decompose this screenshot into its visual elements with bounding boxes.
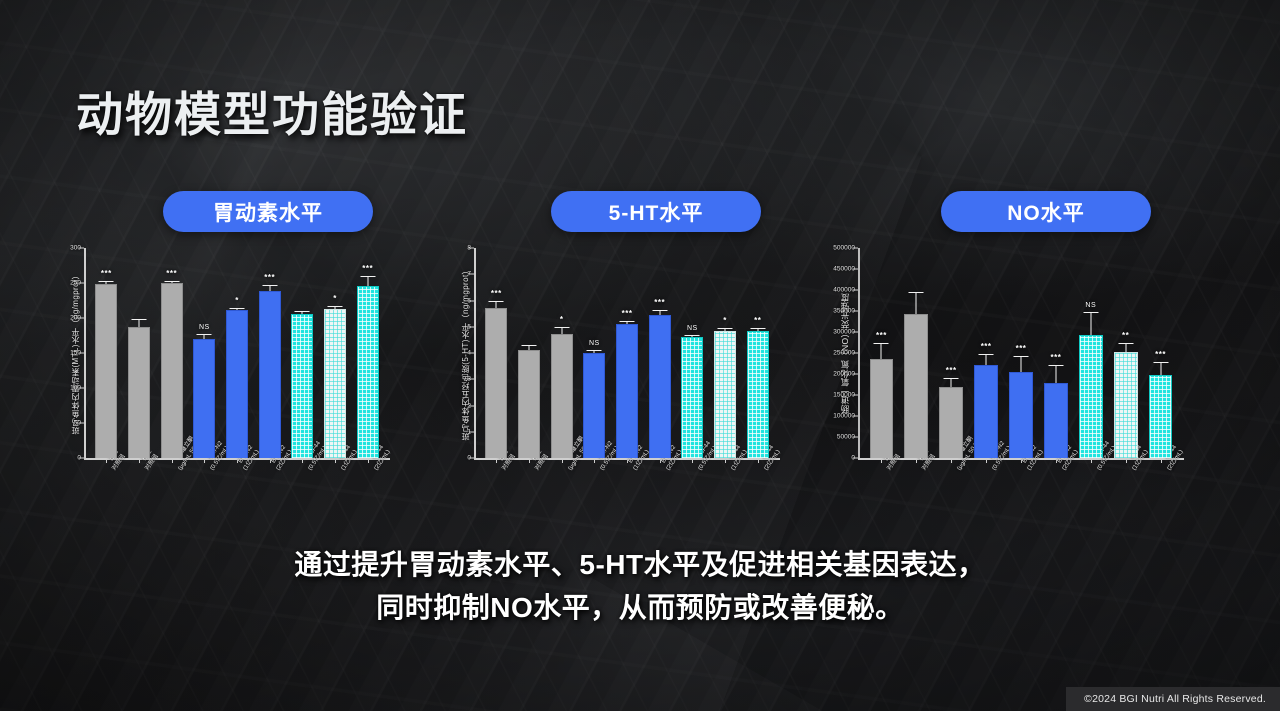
plot-area: 050100150200250300***正常对照组模型对照组***多潘立酮(5… — [84, 248, 384, 458]
y-axis-tick-mark — [469, 326, 474, 327]
y-axis-tick-mark — [469, 431, 474, 432]
y-axis-tick-mark — [853, 395, 858, 396]
bar-slot: *BGI-N2(1亿/mL) — [221, 248, 254, 458]
significance-marker: NS — [687, 325, 698, 332]
bar — [1149, 375, 1173, 458]
bar-slot: *OF44(1亿/mL) — [709, 248, 742, 458]
y-axis-tick-mark — [79, 318, 84, 319]
bar — [1114, 352, 1138, 458]
bar-slot: ***OF44(2亿/mL) — [1143, 248, 1178, 458]
y-axis-tick-mark — [853, 290, 858, 291]
significance-marker: *** — [946, 366, 957, 375]
y-axis-tick-mark — [469, 353, 474, 354]
significance-marker: *** — [622, 309, 633, 318]
y-axis-tick-mark — [853, 311, 858, 312]
bar — [583, 353, 605, 458]
bar — [974, 365, 998, 458]
y-axis-tick-mark — [79, 248, 84, 249]
plot-area: 0500001000001500002000002500003000003500… — [858, 248, 1178, 458]
significance-marker: *** — [876, 331, 887, 340]
bar — [226, 310, 248, 458]
y-axis-tick-label: 400000 — [833, 287, 855, 294]
bar-group: ***正常对照组模型对照组*多潘立酮(50.0 μg/mL)NSBGI-N2(0… — [480, 248, 774, 458]
bar-slot: 模型对照组 — [899, 248, 934, 458]
bar-chart-no: 肠道一氧化氮（NO）荧光强度05000010000015000020000025… — [836, 248, 1236, 508]
chart-title-badge-label: 胃动素水平 — [213, 197, 323, 227]
y-axis-tick-mark — [469, 300, 474, 301]
y-axis-line — [858, 248, 860, 458]
significance-marker: NS — [589, 340, 600, 347]
y-axis-tick-label: 250000 — [833, 350, 855, 357]
footer-bar: ©2024 BGI Nutri All Rights Reserved. — [1066, 687, 1280, 711]
bar — [1079, 335, 1103, 458]
significance-marker: NS — [1085, 302, 1096, 309]
bar-slot: ***BGI-N2(2亿/mL) — [253, 248, 286, 458]
significance-marker: NS — [199, 324, 210, 331]
significance-marker: *** — [1050, 353, 1061, 362]
bar-slot: ***BGI-N2(2亿/mL) — [1038, 248, 1073, 458]
bar-slot: NSBGI-N2(0.5亿/mL) — [188, 248, 221, 458]
bar-slot: ***正常对照组 — [480, 248, 513, 458]
y-axis-tick-mark — [853, 269, 858, 270]
page-title: 动物模型功能验证 — [76, 76, 468, 145]
bar — [161, 283, 183, 458]
chart-title-badge-no: NO水平 — [941, 191, 1151, 232]
bar-slot: ***BGI-N2(0.5亿/mL) — [969, 248, 1004, 458]
y-axis-tick-mark — [853, 248, 858, 249]
y-axis-tick-label: 150000 — [833, 392, 855, 399]
y-axis-tick-mark — [853, 374, 858, 375]
bar-slot: ***BGI-N2(1亿/mL) — [611, 248, 644, 458]
significance-marker: *** — [1155, 350, 1166, 359]
bar — [518, 350, 540, 458]
significance-marker: *** — [491, 289, 502, 298]
bar — [357, 286, 379, 458]
slide-root: 动物模型功能验证 胃动素水平 5-HT水平 NO水平 斑马鱼体内胃动素(MTL)… — [0, 0, 1280, 711]
bar — [649, 315, 671, 458]
significance-marker: *** — [166, 269, 177, 278]
bar-slot: NSOF44(0.5亿/mL) — [676, 248, 709, 458]
bar — [870, 359, 894, 458]
bar-slot: **OF44(2亿/mL) — [741, 248, 774, 458]
chart-title-badge-label: 5-HT水平 — [609, 197, 704, 227]
significance-marker: *** — [362, 264, 373, 273]
bar — [324, 309, 346, 458]
y-axis-tick-label: 200000 — [833, 371, 855, 378]
bar — [95, 284, 117, 458]
bar-slot: NSOF44(0.5亿/mL) — [1073, 248, 1108, 458]
chart-title-badge-label: NO水平 — [1007, 197, 1085, 227]
y-axis-line — [474, 248, 476, 458]
y-axis-tick-mark — [79, 388, 84, 389]
y-axis-tick-label: 100000 — [833, 413, 855, 420]
y-axis-tick-mark — [469, 458, 474, 459]
bar-slot: ***BGI-N2(1亿/mL) — [1004, 248, 1039, 458]
y-axis-tick-mark — [853, 332, 858, 333]
significance-marker: * — [560, 315, 564, 324]
bar — [616, 324, 638, 458]
bar-slot: NSBGI-N2(0.5亿/mL) — [578, 248, 611, 458]
significance-marker: *** — [654, 298, 665, 307]
y-axis-tick-mark — [853, 437, 858, 438]
bar-slot: 模型对照组 — [513, 248, 546, 458]
bar — [193, 339, 215, 458]
bar-slot: **OF44(1亿/mL) — [1108, 248, 1143, 458]
y-axis-tick-mark — [469, 379, 474, 380]
bar — [1044, 383, 1068, 458]
bar — [714, 331, 736, 458]
bar — [904, 314, 928, 458]
bar-slot: OF44(0.5亿/mL) — [286, 248, 319, 458]
bar-slot: ***BGI-N2(2亿/mL) — [643, 248, 676, 458]
significance-marker: *** — [1016, 344, 1027, 353]
bar-slot: *OF44(1亿/mL) — [319, 248, 352, 458]
bar — [681, 337, 703, 458]
bar — [939, 387, 963, 458]
significance-marker: * — [235, 296, 239, 305]
bar-group: ***正常对照组模型对照组***多潘立酮(50.0 μg/mL)***BGI-N… — [864, 248, 1178, 458]
y-axis-tick-mark — [853, 458, 858, 459]
bar — [551, 334, 573, 458]
y-axis-tick-label: 500000 — [833, 245, 855, 252]
y-axis-tick-mark — [853, 416, 858, 417]
chart-title-badge-motilin: 胃动素水平 — [163, 191, 373, 232]
significance-marker: * — [333, 294, 337, 303]
y-axis-tick-label: 450000 — [833, 266, 855, 273]
y-axis-tick-mark — [469, 248, 474, 249]
bar — [291, 314, 313, 458]
significance-marker: ** — [1122, 331, 1129, 340]
chart-title-badge-5ht: 5-HT水平 — [551, 191, 761, 232]
bar-slot: ***正常对照组 — [864, 248, 899, 458]
bar — [259, 291, 281, 458]
bar-slot: ***正常对照组 — [90, 248, 123, 458]
conclusion-text: 通过提升胃动素水平、5-HT水平及促进相关基因表达， 同时抑制NO水平，从而预防… — [0, 544, 1280, 629]
conclusion-line-2: 同时抑制NO水平，从而预防或改善便秘。 — [0, 587, 1280, 630]
bar-slot: ***多潘立酮(50.0 μg/mL) — [934, 248, 969, 458]
plot-area: 012345678***正常对照组模型对照组*多潘立酮(50.0 μg/mL)N… — [474, 248, 774, 458]
bar-slot: 模型对照组 — [123, 248, 156, 458]
bar-chart-5ht: 斑马鱼体内五羟色胺(5-HT)水平（ng/mgprot）012345678***… — [456, 248, 846, 508]
y-axis-tick-mark — [469, 274, 474, 275]
bar-slot: *多潘立酮(50.0 μg/mL) — [545, 248, 578, 458]
y-axis-tick-mark — [79, 423, 84, 424]
bar — [485, 308, 507, 458]
bar-slot: ***多潘立酮(50.0 μg/mL) — [155, 248, 188, 458]
y-axis-tick-mark — [469, 405, 474, 406]
significance-marker: *** — [981, 342, 992, 351]
bar — [128, 327, 150, 458]
y-axis-line — [84, 248, 86, 458]
y-axis-tick-mark — [79, 353, 84, 354]
significance-marker: *** — [264, 273, 275, 282]
bar-group: ***正常对照组模型对照组***多潘立酮(50.0 μg/mL)NSBGI-N2… — [90, 248, 384, 458]
bar — [1009, 372, 1033, 458]
significance-marker: ** — [754, 316, 761, 325]
bar — [747, 331, 769, 458]
significance-marker: * — [723, 316, 727, 325]
bar-slot: ***OF44(2亿/mL) — [351, 248, 384, 458]
conclusion-line-1: 通过提升胃动素水平、5-HT水平及促进相关基因表达， — [0, 544, 1280, 587]
y-axis-tick-mark — [79, 458, 84, 459]
copyright-text: ©2024 BGI Nutri All Rights Reserved. — [1084, 693, 1266, 705]
y-axis-tick-mark — [853, 353, 858, 354]
bar-chart-motilin: 斑马鱼体内胃动素(MTL)水平（pg/mgprot）05010015020025… — [66, 248, 456, 508]
y-axis-tick-label: 300000 — [833, 329, 855, 336]
significance-marker: *** — [101, 269, 112, 278]
y-axis-tick-mark — [79, 283, 84, 284]
y-axis-tick-label: 350000 — [833, 308, 855, 315]
